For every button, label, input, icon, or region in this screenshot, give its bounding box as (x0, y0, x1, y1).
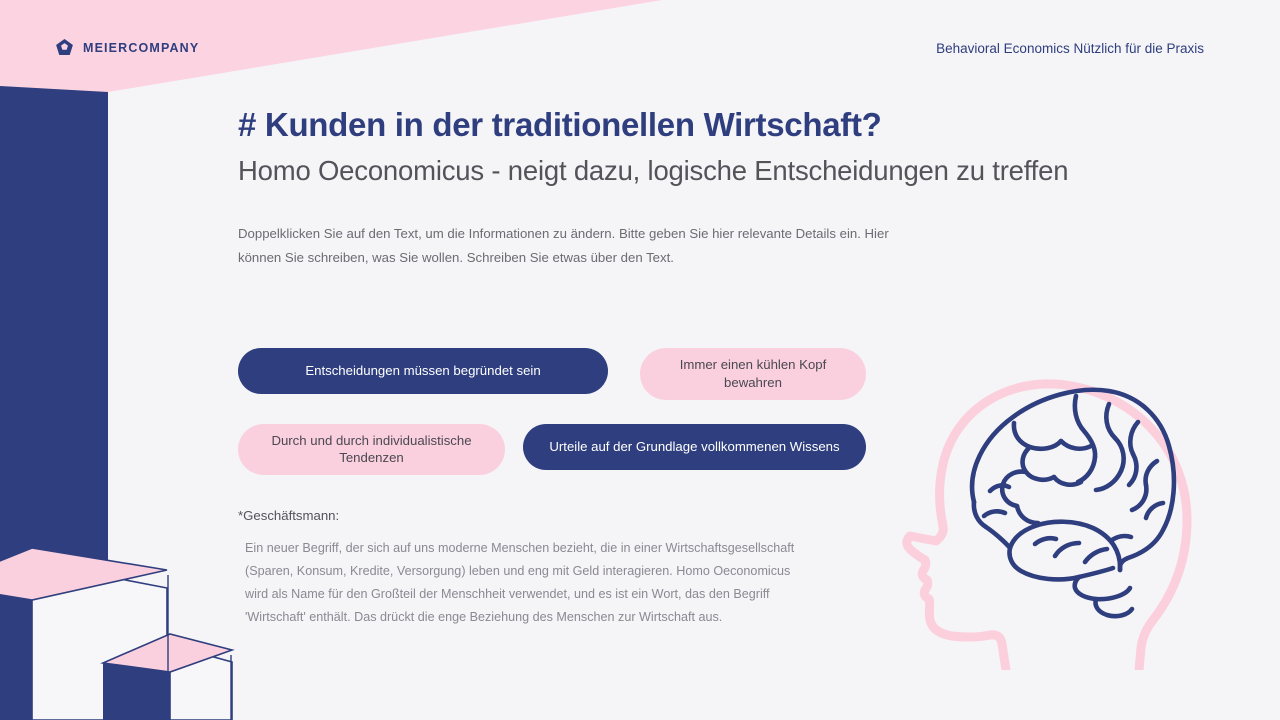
footnote-body: Ein neuer Begriff, der sich auf uns mode… (245, 537, 798, 629)
pill-row-2: Durch und durch individualistische Tende… (238, 424, 878, 476)
pill-decisions-justified[interactable]: Entscheidungen müssen begründet sein (238, 348, 608, 394)
pill-row-1: Entscheidungen müssen begründet sein Imm… (238, 348, 878, 400)
header-kicker: Behavioral Economics Nützlich für die Pr… (936, 41, 1204, 56)
brand-logo: MEIERCOMPANY (55, 38, 199, 57)
pill-perfect-knowledge[interactable]: Urteile auf der Grundlage vollkommenen W… (523, 424, 866, 470)
star-pentagon-icon (55, 38, 74, 57)
slide-canvas: MEIERCOMPANY Behavioral Economics Nützli… (0, 0, 1280, 720)
page-title: # Kunden in der traditionellen Wirtschaf… (238, 106, 1218, 144)
attribute-pill-group: Entscheidungen müssen begründet sein Imm… (238, 348, 878, 475)
page-subtitle: Homo Oeconomicus - neigt dazu, logische … (238, 154, 1218, 187)
footnote-label: *Geschäftsmann: (238, 508, 798, 523)
footnote-block: *Geschäftsmann: Ein neuer Begriff, der s… (238, 508, 798, 629)
head-profile-with-brain-icon (880, 330, 1220, 670)
pill-cool-head[interactable]: Immer einen kühlen Kopf bewahren (640, 348, 866, 400)
intro-paragraph: Doppelklicken Sie auf den Text, um die I… (238, 222, 928, 269)
brand-name: MEIERCOMPANY (83, 41, 199, 55)
content-block: # Kunden in der traditionellen Wirtschaf… (238, 106, 1218, 269)
pill-individualistic-tendencies[interactable]: Durch und durch individualistische Tende… (238, 424, 505, 476)
